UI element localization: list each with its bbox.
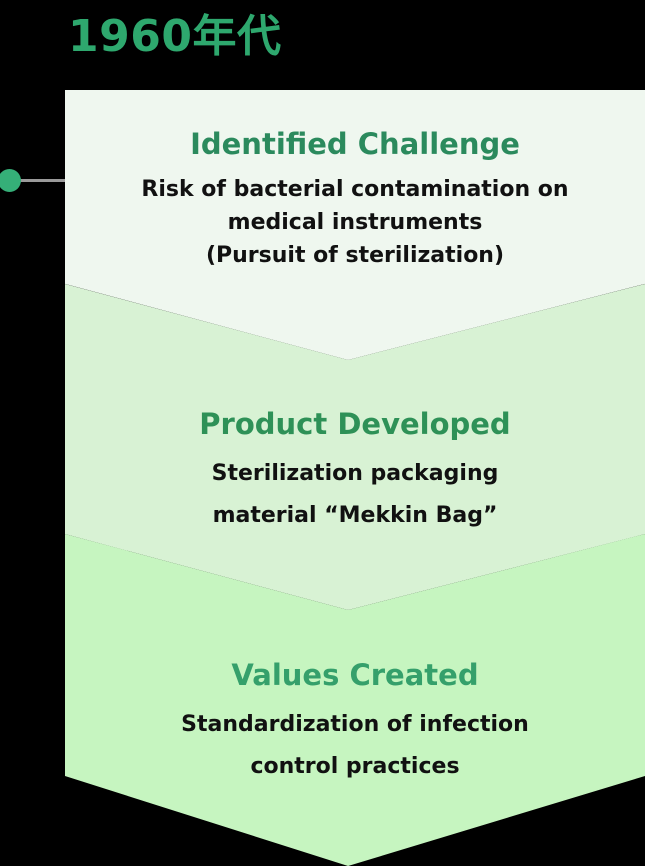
band-body-values-created: Standardization of infection control pra… bbox=[83, 704, 627, 788]
band-body-line: (Pursuit of sterilization) bbox=[83, 239, 627, 272]
band-heading-product-developed: Product Developed bbox=[83, 405, 627, 443]
funnel-diagram: Identified Challenge Risk of bacterial c… bbox=[65, 90, 645, 866]
band-content-product-developed: Product Developed Sterilization packagin… bbox=[65, 405, 645, 537]
band-body-line: control practices bbox=[83, 746, 627, 788]
band-content-identified-challenge: Identified Challenge Risk of bacterial c… bbox=[65, 125, 645, 272]
timeline-dot-icon[interactable] bbox=[0, 169, 21, 192]
band-body-line: Standardization of infection bbox=[83, 704, 627, 746]
band-body-identified-challenge: Risk of bacterial contamination on medic… bbox=[83, 173, 627, 272]
band-body-product-developed: Sterilization packaging material “Mekkin… bbox=[83, 453, 627, 537]
timeline-connector-line bbox=[18, 179, 66, 182]
band-body-line: material “Mekkin Bag” bbox=[83, 495, 627, 537]
band-heading-values-created: Values Created bbox=[83, 656, 627, 694]
band-content-values-created: Values Created Standardization of infect… bbox=[65, 656, 645, 788]
timeline-card: 1960年代 Identified Challenge Risk of bact… bbox=[0, 0, 645, 866]
band-heading-identified-challenge: Identified Challenge bbox=[83, 125, 627, 163]
band-body-line: Sterilization packaging bbox=[83, 453, 627, 495]
era-title: 1960年代 bbox=[68, 6, 281, 68]
band-body-line: Risk of bacterial contamination on bbox=[83, 173, 627, 206]
band-body-line: medical instruments bbox=[83, 206, 627, 239]
